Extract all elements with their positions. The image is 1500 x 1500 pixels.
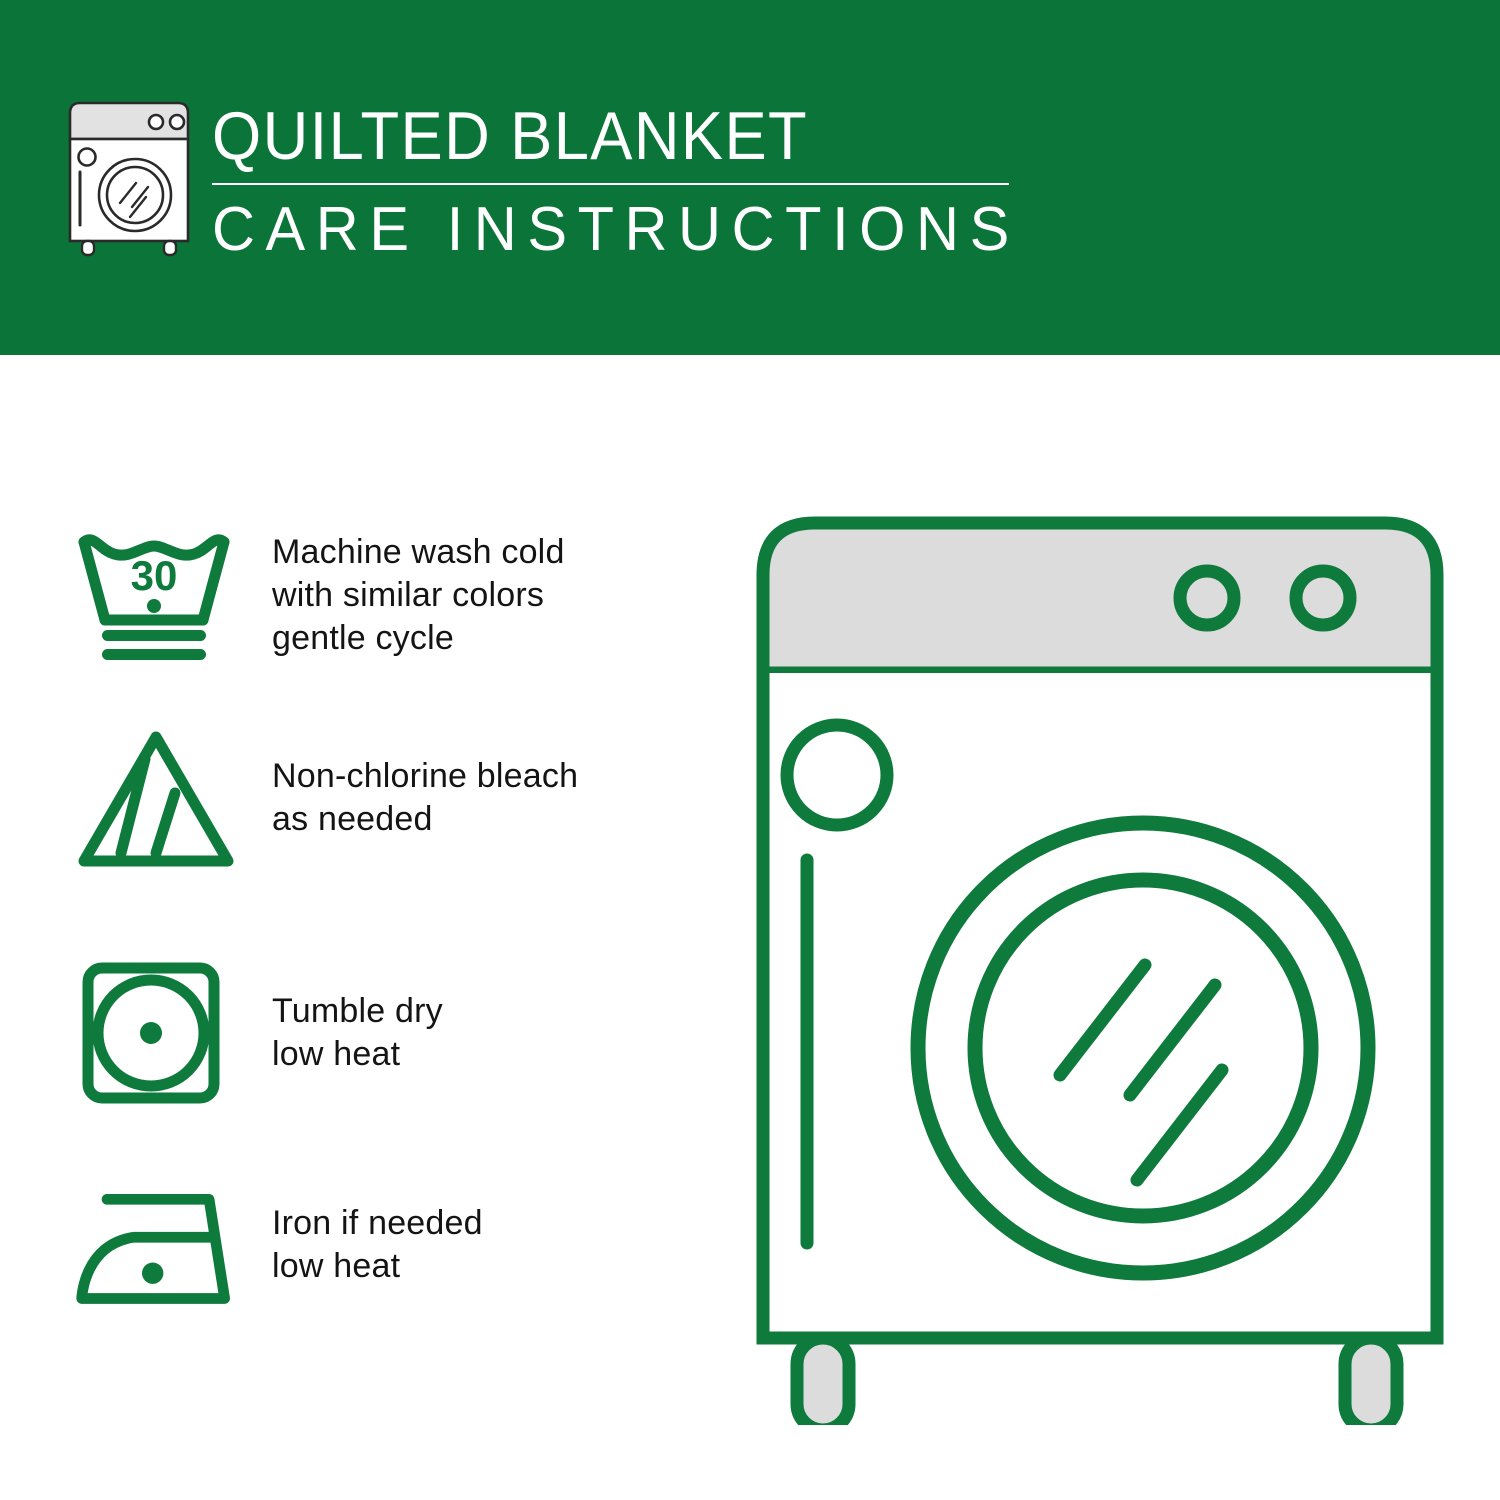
washing-machine-icon [60,95,200,260]
non-chlorine-bleach-triangle-icon [72,723,247,873]
care-instruction-label: Non-chlorine bleach as needed [272,755,578,841]
title-divider [212,183,1009,185]
wash-tub-30-gentle-icon: 30 [72,520,247,670]
leg-left [797,1338,849,1425]
care-instruction-item: Iron if needed low heat [72,1175,712,1315]
page-title: QUILTED BLANKET [212,99,995,173]
wash-temperature-value: 30 [131,552,178,599]
care-instruction-item: Tumble dry low heat [72,955,712,1110]
front-load-washing-machine-illustration [745,495,1455,1425]
care-instructions-page: QUILTED BLANKET CARE INSTRUCTIONS 30 [0,0,1500,1500]
detergent-dispenser [787,725,887,825]
iron-low-heat-icon [72,1170,247,1320]
page-subtitle: CARE INSTRUCTIONS [212,197,1020,263]
care-instruction-label: Machine wash cold with similar colors ge… [272,531,565,660]
knob-right [1296,571,1350,625]
care-instruction-item: 30 Machine wash cold with similar colors… [72,510,712,680]
header-content: QUILTED BLANKET CARE INSTRUCTIONS [60,95,1053,263]
care-instruction-item: Non-chlorine bleach as needed [72,723,712,873]
care-instruction-list: 30 Machine wash cold with similar colors… [0,355,740,1500]
leg-right [1345,1338,1397,1425]
knob-left [1180,571,1234,625]
care-instruction-label: Tumble dry low heat [272,990,443,1076]
header-text: QUILTED BLANKET CARE INSTRUCTIONS [212,95,1053,263]
tumble-dry-low-icon [72,958,247,1108]
header-banner: QUILTED BLANKET CARE INSTRUCTIONS [0,0,1500,355]
care-instruction-label: Iron if needed low heat [272,1202,483,1288]
